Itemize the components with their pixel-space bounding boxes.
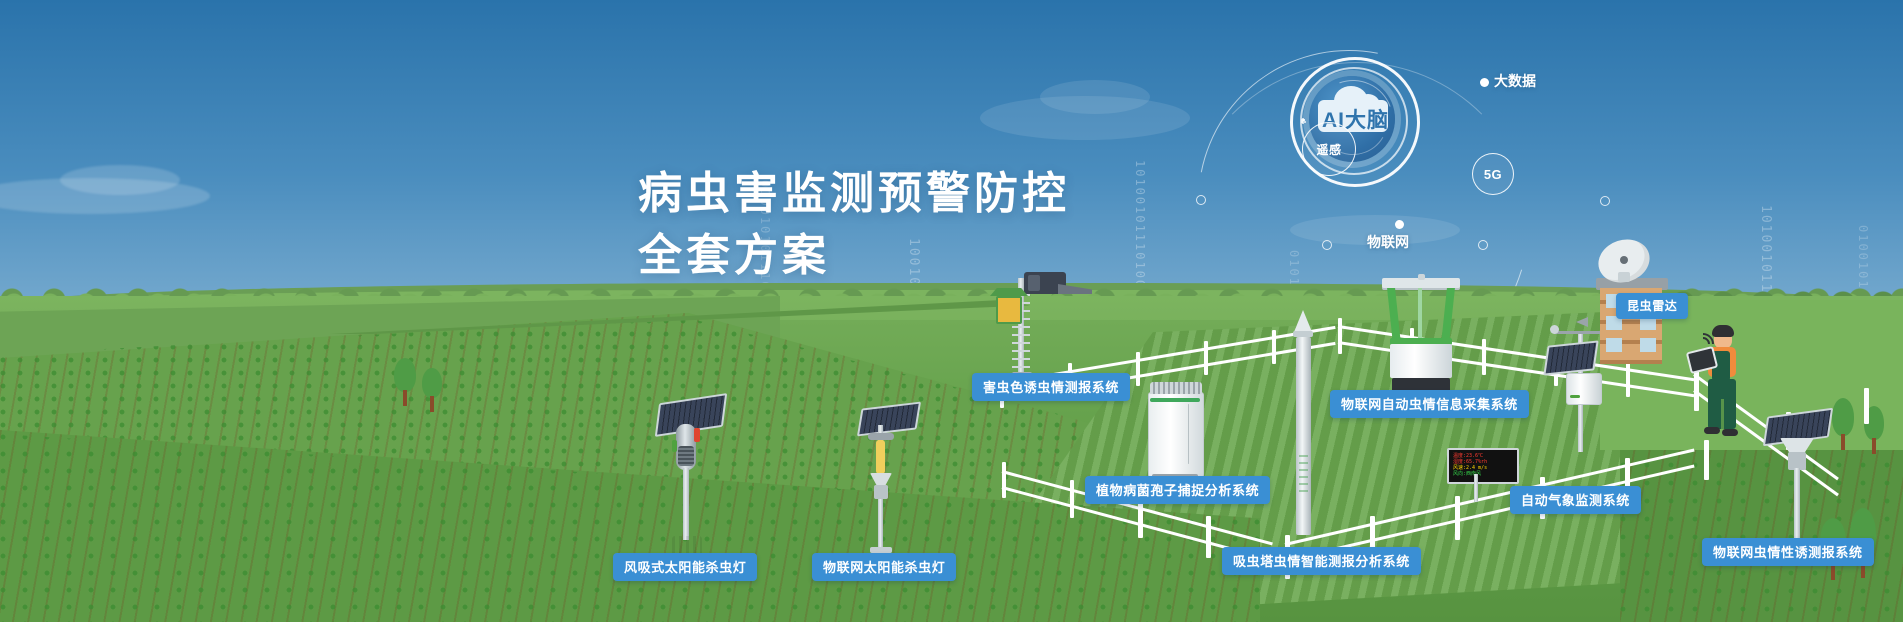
fence-post: [1070, 480, 1074, 518]
weather-solar-panel: [1543, 340, 1598, 375]
label-auto-weather[interactable]: 自动气象监测系统: [1510, 486, 1641, 514]
lamp-grille: [678, 446, 694, 466]
radar-dish-feed: [1620, 256, 1628, 264]
fence-post: [1864, 388, 1869, 424]
tower-tube: [1296, 337, 1311, 535]
lamp-collect-bin: [874, 485, 888, 499]
label-pest-color-trap[interactable]: 害虫色诱虫情测报系统: [972, 373, 1130, 401]
fence-post: [1136, 352, 1140, 386]
spore-cabinet-green-stripe: [1150, 398, 1200, 402]
weather-control-box-logo: [1570, 395, 1580, 398]
device-wind-suction-solar-lamp[interactable]: [650, 398, 730, 558]
ai-orbit-endpoint-dot: [1600, 196, 1610, 206]
label-spore-capture[interactable]: 植物病菌孢子捕捉分析系统: [1085, 476, 1270, 504]
farmer-leg-gap: [1721, 399, 1724, 429]
label-suction-tower[interactable]: 吸虫塔虫情智能测报分析系统: [1222, 547, 1421, 575]
label-wind-suction-solar-lamp[interactable]: 风吸式太阳能杀虫灯: [613, 553, 757, 581]
farmer-shoe: [1722, 429, 1738, 436]
lamp-indicator-green: [672, 440, 677, 452]
weather-control-box: [1566, 373, 1602, 405]
radar-building-window: [1640, 338, 1656, 352]
ai-orbit-endpoint-dot: [1478, 240, 1488, 250]
spore-cabinet-top-vent: [1150, 382, 1202, 394]
ai-node-iot-dot[interactable]: [1395, 220, 1404, 229]
ai-orbit-endpoint-dot: [1196, 195, 1206, 205]
fence-post: [1704, 440, 1709, 480]
cloud-shape: [60, 165, 180, 195]
ai-node-big-data-dot[interactable]: [1480, 78, 1489, 87]
fence-post: [1455, 496, 1460, 540]
tree: [420, 368, 444, 412]
fence-post: [1002, 462, 1006, 498]
label-iot-sex-lure[interactable]: 物联网虫情性诱测报系统: [1702, 538, 1874, 566]
fence-post: [1338, 318, 1342, 354]
led-display-board[interactable]: 温度:23.6℃ 湿度:65.7%rh 风速:2.4 m/s 风向:西南风: [1447, 448, 1519, 484]
lure-pole: [1794, 468, 1800, 546]
hero-illustration-banner: 1001010111010100010 01001010111010010100…: [0, 0, 1903, 622]
ai-node-remote-sensing-text: 遥感: [1316, 141, 1341, 158]
led-line: 风向:西南风: [1453, 471, 1513, 477]
ai-node-5g[interactable]: 5G: [1472, 153, 1514, 195]
tower-green-mark: [1299, 450, 1308, 492]
farmer-hair: [1712, 325, 1734, 337]
hero-title-line1: 病虫害监测预警防控: [638, 168, 1070, 220]
collector-roof-knob: [1418, 274, 1425, 280]
weather-anemometer-cup: [1550, 325, 1559, 334]
device-iot-auto-pest-collect[interactable]: [1382, 278, 1464, 400]
ai-node-remote-sensing-bubble-visible[interactable]: [1304, 121, 1306, 123]
spore-cabinet-body: [1148, 392, 1204, 478]
lamp-indicator-red: [694, 428, 700, 442]
node-remote-sensing[interactable]: [1303, 119, 1305, 121]
farmer-figure: [1690, 325, 1750, 445]
device-spore-capture[interactable]: [1148, 382, 1210, 478]
tree: [392, 358, 418, 406]
collector-cage-left: [1387, 288, 1401, 344]
trap-yellow-card: [996, 296, 1022, 324]
fence-post: [1204, 341, 1208, 375]
hero-title-line2: 全套方案: [638, 230, 830, 282]
lamp-head: [868, 433, 894, 440]
trap-head-highlight: [1028, 275, 1040, 291]
radar-building-window: [1606, 338, 1622, 352]
label-insect-radar[interactable]: 昆虫雷达: [1616, 293, 1688, 319]
collector-cage-mid: [1418, 288, 1422, 344]
fence-post: [1138, 498, 1143, 538]
tower-cone: [1294, 310, 1312, 332]
farmer-shoe: [1704, 427, 1720, 434]
fence-post: [1206, 516, 1211, 558]
device-iot-solar-lamp[interactable]: [850, 405, 920, 555]
radar-dish-mount: [1618, 272, 1630, 282]
lamp-tube-yellow: [876, 440, 885, 474]
solar-panel: [857, 402, 921, 437]
ai-node-5g-text: 5G: [1484, 167, 1502, 182]
lamp-pole: [683, 468, 689, 540]
ai-node-big-data-label: 大数据: [1494, 71, 1536, 91]
ai-node-iot-label: 物联网: [1367, 232, 1409, 252]
fence-post: [1482, 339, 1486, 375]
collector-cage-right: [1441, 288, 1455, 344]
collector-body: [1390, 344, 1452, 378]
ai-orbit-endpoint-dot: [1322, 240, 1332, 250]
label-iot-auto-pest-collect[interactable]: 物联网自动虫情信息采集系统: [1330, 390, 1529, 418]
led-board-post: [1474, 474, 1478, 502]
spore-cabinet-door-line: [1188, 404, 1189, 464]
label-iot-solar-lamp[interactable]: 物联网太阳能杀虫灯: [812, 553, 956, 581]
cloud-shape: [1040, 80, 1150, 114]
device-pest-color-trap[interactable]: [1000, 272, 1084, 380]
device-iot-sex-lure[interactable]: [1760, 412, 1840, 552]
ai-node-remote-sensing-final[interactable]: 遥感: [1302, 122, 1356, 176]
fence-post: [1272, 330, 1276, 364]
device-suction-tower[interactable]: [1290, 310, 1316, 540]
